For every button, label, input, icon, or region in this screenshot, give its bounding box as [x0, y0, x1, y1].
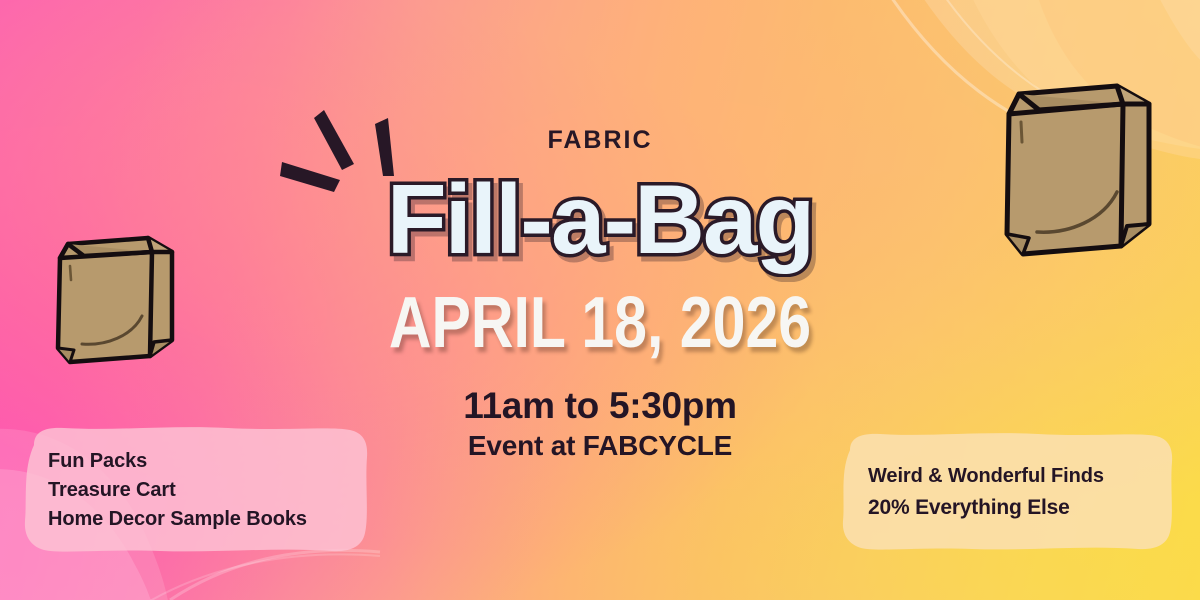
event-time: 11am to 5:30pm	[0, 385, 1200, 426]
list-item: Fun Packs	[48, 447, 370, 476]
event-promo-banner: FABRIC Fill-a-Bag APRIL 18, 2026 11am to…	[0, 0, 1200, 600]
eyebrow-label: FABRIC	[0, 128, 1200, 153]
right-info-card: Weird & Wonderful Finds 20% Everything E…	[838, 430, 1176, 554]
headline-wrapper: Fill-a-Bag	[0, 163, 1200, 275]
right-card-text-list: Weird & Wonderful Finds 20% Everything E…	[868, 460, 1176, 524]
left-info-card: Fun Packs Treasure Cart Home Decor Sampl…	[20, 423, 370, 557]
list-item: Treasure Cart	[48, 476, 370, 505]
left-card-text-list: Fun Packs Treasure Cart Home Decor Sampl…	[48, 447, 370, 534]
event-date: APRIL 18, 2026	[108, 283, 1092, 363]
list-item: Home Decor Sample Books	[48, 505, 370, 534]
list-item: Weird & Wonderful Finds	[868, 460, 1176, 492]
center-text-stack: FABRIC Fill-a-Bag APRIL 18, 2026 11am to…	[0, 128, 1200, 463]
list-item: 20% Everything Else	[868, 492, 1176, 524]
page-title: Fill-a-Bag	[0, 163, 1200, 275]
